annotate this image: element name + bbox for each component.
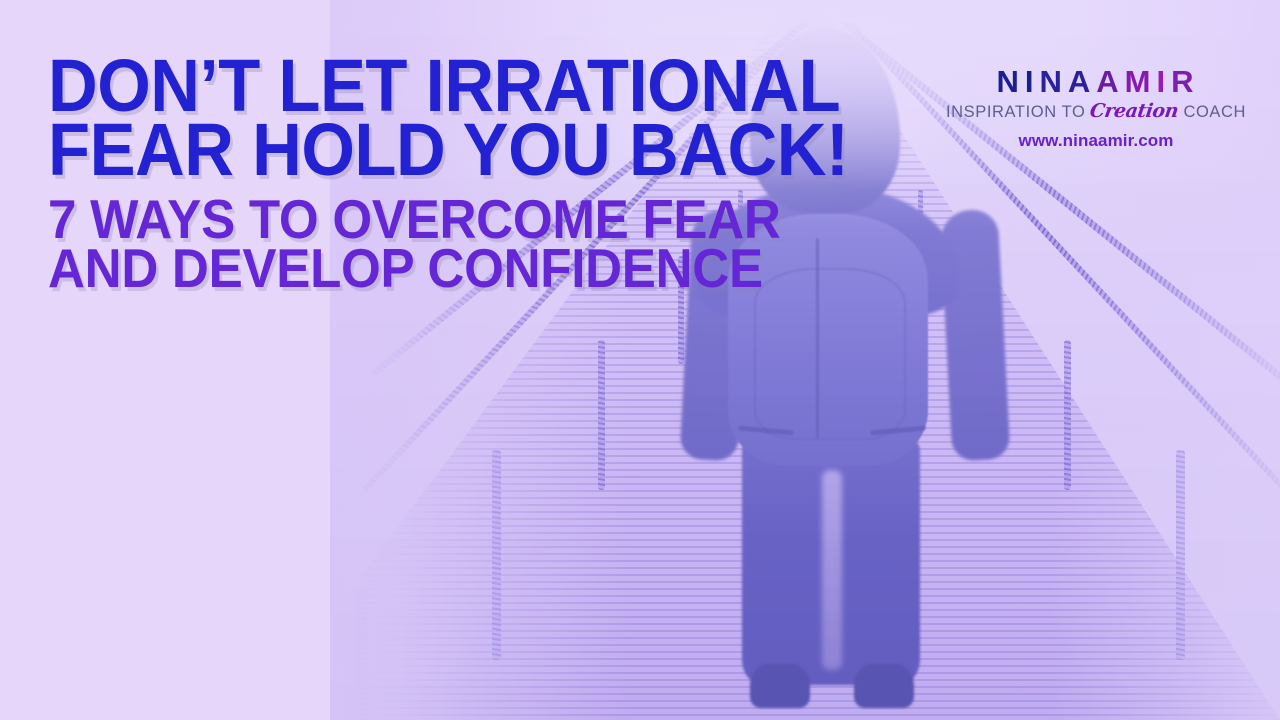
logo-letter-n2: N: [1040, 64, 1068, 99]
website-url[interactable]: www.ninaamir.com: [956, 131, 1236, 151]
headline-block: DON’T LET IRRATIONAL FEAR HOLD YOU BACK!…: [48, 54, 688, 292]
logo-tagline-after: COACH: [1183, 103, 1246, 122]
promo-graphic-canvas: DON’T LET IRRATIONAL FEAR HOLD YOU BACK!…: [0, 0, 1280, 720]
logo-letter-m: M: [1125, 64, 1157, 99]
logo-tagline-script: Creation: [1089, 100, 1180, 122]
logo-tagline: INSPIRATION TO Creation COACH: [956, 100, 1236, 122]
subheadline-block: 7 WAYS TO OVERCOME FEAR AND DEVELOP CONF…: [48, 195, 688, 292]
logo-letter-a2: A: [1096, 64, 1124, 99]
logo-letter-a1: A: [1068, 64, 1096, 99]
logo-letter-i1: I: [1025, 64, 1040, 99]
headline-line-2: FEAR HOLD YOU BACK!: [48, 118, 643, 182]
brand-logo[interactable]: NINAAMIR INSPIRATION TO Creation COACH w…: [956, 66, 1236, 151]
subheadline-line-2: AND DEVELOP CONFIDENCE: [48, 244, 643, 292]
logo-letter-r: R: [1171, 64, 1199, 99]
logo-name: NINAAMIR: [960, 66, 1236, 97]
logo-letter-i2: I: [1157, 64, 1172, 99]
logo-letter-n1: N: [996, 64, 1024, 99]
logo-tagline-before: INSPIRATION TO: [946, 103, 1086, 122]
